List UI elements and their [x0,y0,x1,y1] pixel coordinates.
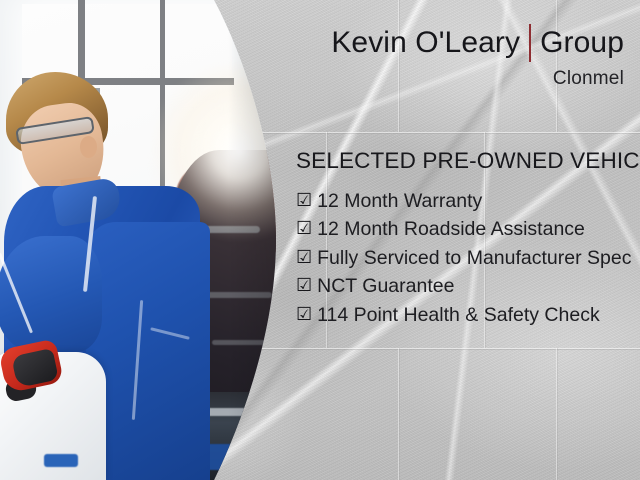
brand-divider-line [529,24,531,62]
page-title: SELECTED PRE-OWNED VEHICLES [296,148,640,174]
checkbox-checked-icon: ☑ [296,219,312,237]
list-item: ☑ 114 Point Health & Safety Check [296,304,631,332]
list-item-label: NCT Guarantee [317,275,454,298]
brand-name-secondary: Group [540,28,624,58]
list-item: ☑ 12 Month Roadside Assistance [296,218,631,246]
brand-name-primary: Kevin O'Leary [331,28,520,58]
list-item: ☑ 12 Month Warranty [296,190,631,218]
checkbox-checked-icon: ☑ [296,191,312,209]
brand-location: Clonmel [331,69,624,88]
checkbox-checked-icon: ☑ [296,248,312,266]
advert-banner: Kevin O'Leary Group Clonmel SELECTED PRE… [0,0,640,480]
list-item: ☑ Fully Serviced to Manufacturer Spec [296,247,631,275]
list-item: ☑ NCT Guarantee [296,275,631,303]
list-item-label: Fully Serviced to Manufacturer Spec [317,247,631,270]
list-item-label: 12 Month Warranty [317,190,482,213]
checkbox-checked-icon: ☑ [296,305,312,323]
brand-logo: Kevin O'Leary Group Clonmel [331,24,624,88]
list-item-label: 12 Month Roadside Assistance [317,218,585,241]
list-item-label: 114 Point Health & Safety Check [317,304,600,327]
feature-list: ☑ 12 Month Warranty ☑ 12 Month Roadside … [296,190,631,332]
checkbox-checked-icon: ☑ [296,276,312,294]
